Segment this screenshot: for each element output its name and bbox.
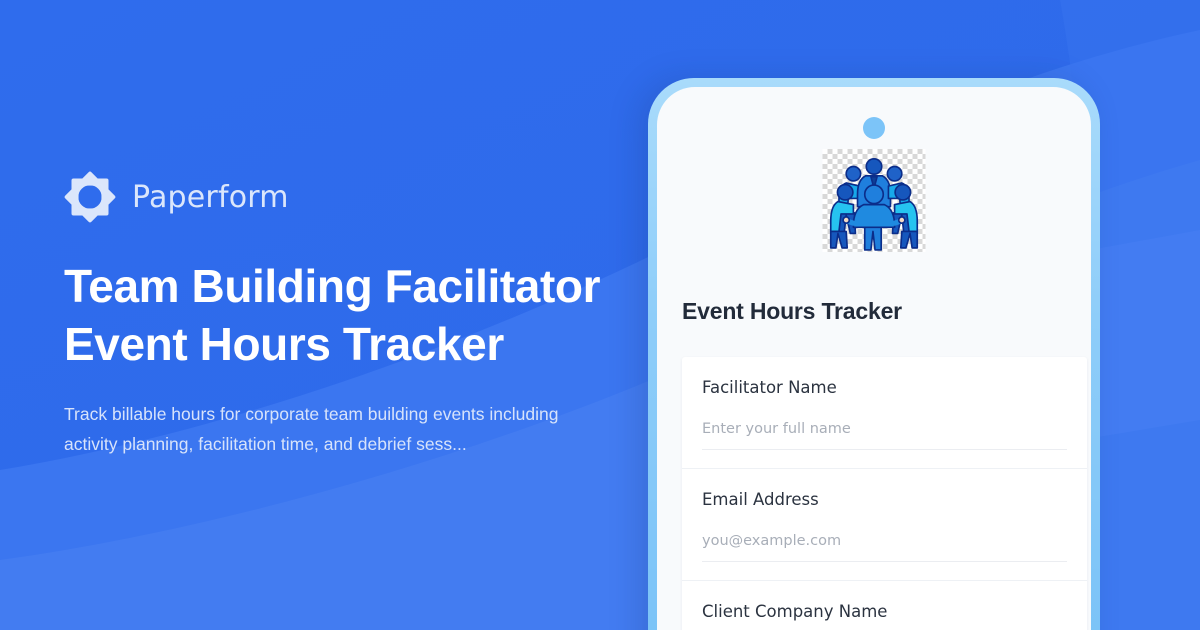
brand: Paperform <box>64 171 664 223</box>
facilitator-name-input[interactable]: Enter your full name <box>702 421 1067 450</box>
form-title: Event Hours Tracker <box>682 298 902 325</box>
form-field-email-address[interactable]: Email Address you@example.com <box>682 469 1087 581</box>
field-label: Facilitator Name <box>702 378 1067 397</box>
camera-dot-icon <box>863 117 885 139</box>
brand-name: Paperform <box>132 180 289 215</box>
page-title: Team Building Facilitator Event Hours Tr… <box>64 257 624 373</box>
promo-banner: Paperform Team Building Facilitator Even… <box>0 0 1200 630</box>
paperform-star-logo-icon <box>64 171 116 223</box>
phone-mockup: Event Hours Tracker Facilitator Name Ent… <box>648 78 1100 630</box>
email-field[interactable]: you@example.com <box>702 533 1067 562</box>
field-label: Client Company Name <box>702 602 1067 621</box>
form-field-facilitator-name[interactable]: Facilitator Name Enter your full name <box>682 357 1087 469</box>
phone-screen: Event Hours Tracker Facilitator Name Ent… <box>657 87 1091 630</box>
hero-column: Paperform Team Building Facilitator Even… <box>64 0 664 630</box>
form-card: Facilitator Name Enter your full name Em… <box>682 357 1087 630</box>
team-circle-illustration-icon <box>823 149 926 252</box>
form-field-client-company-name[interactable]: Client Company Name <box>682 581 1087 630</box>
field-label: Email Address <box>702 490 1067 509</box>
hero-description: Track billable hours for corporate team … <box>64 399 584 459</box>
